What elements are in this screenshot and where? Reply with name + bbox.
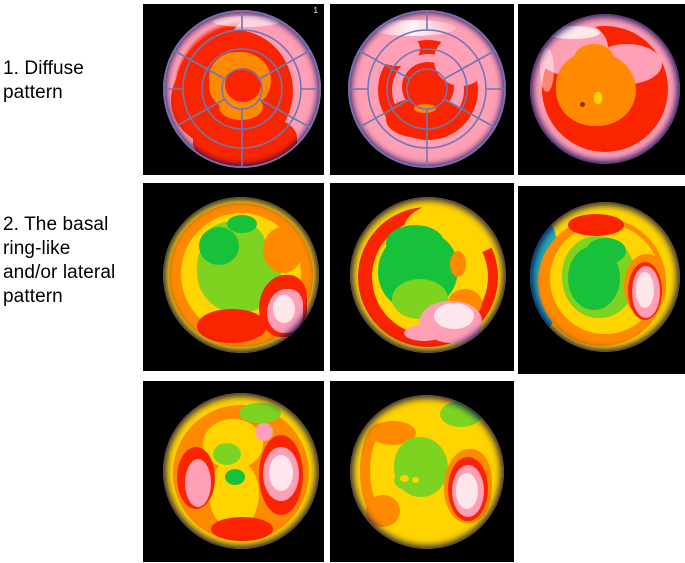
polar-map-diffuse-1[interactable]: 1 bbox=[143, 4, 324, 175]
polar-map-basal-ring-1[interactable] bbox=[143, 183, 324, 371]
figure-panel-grid: 1. Diffuse pattern 2. The basal ring-lik… bbox=[0, 0, 685, 563]
segment-grid-overlay bbox=[163, 10, 321, 168]
polar-map-basal-ring-2[interactable] bbox=[330, 183, 514, 371]
panel-corner-marker: 1 bbox=[314, 6, 318, 15]
polar-map-diffuse-3[interactable] bbox=[518, 4, 685, 175]
segment-grid-overlay bbox=[348, 10, 506, 168]
row-label-basal-ring-pattern: 2. The basal ring-like and/or lateral pa… bbox=[3, 213, 143, 309]
polar-map-basal-ring-3[interactable] bbox=[518, 186, 685, 374]
polar-map-lateral-1[interactable] bbox=[143, 381, 324, 562]
polar-map-lateral-2[interactable] bbox=[330, 381, 514, 562]
polar-map-diffuse-2[interactable] bbox=[330, 4, 514, 175]
row-label-diffuse-pattern: 1. Diffuse pattern bbox=[3, 57, 141, 105]
